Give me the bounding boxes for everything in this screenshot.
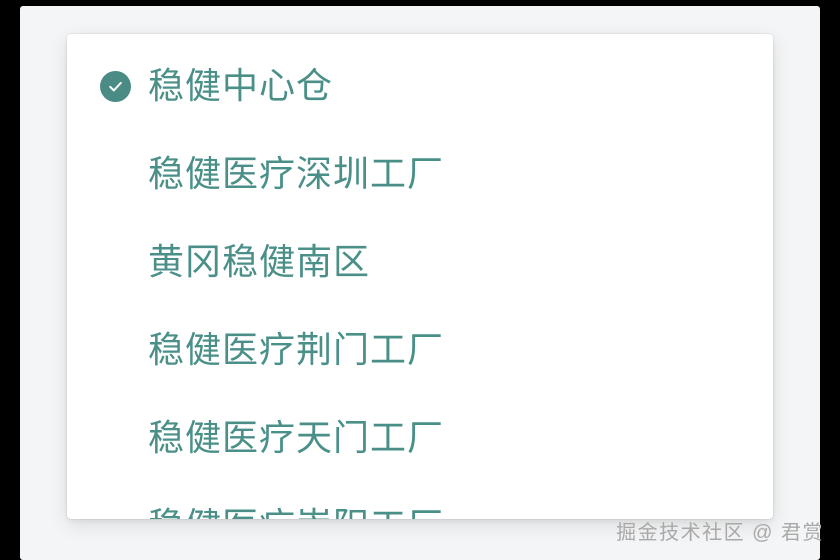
check-icon-placeholder [100, 511, 131, 520]
dropdown-option-list[interactable]: 稳健中心仓稳健医疗深圳工厂黄冈稳健南区稳健医疗荆门工厂稳健医疗天门工厂稳健医疗崇… [67, 34, 773, 519]
check-icon [100, 71, 131, 102]
check-icon-placeholder [100, 159, 131, 190]
dropdown-option[interactable]: 稳健医疗崇阳工厂 [67, 495, 773, 519]
dropdown-option[interactable]: 黄冈稳健南区 [67, 231, 773, 293]
check-icon-placeholder [100, 247, 131, 278]
watermark: 掘金技术社区 @ 君赏 [616, 520, 824, 546]
dropdown-option-label: 稳健医疗荆门工厂 [148, 328, 444, 372]
dropdown-option-label: 黄冈稳健南区 [148, 240, 370, 284]
dropdown-option-label: 稳健医疗天门工厂 [148, 416, 444, 460]
dropdown-panel: 稳健中心仓稳健医疗深圳工厂黄冈稳健南区稳健医疗荆门工厂稳健医疗天门工厂稳健医疗崇… [67, 34, 773, 519]
dropdown-option-label: 稳健中心仓 [148, 64, 333, 108]
dropdown-option[interactable]: 稳健中心仓 [67, 55, 773, 117]
dropdown-option[interactable]: 稳健医疗荆门工厂 [67, 319, 773, 381]
screen-root: 订 稳健中心仓稳健医疗深圳工厂黄冈稳健南区稳健医疗荆门工厂稳健医疗天门工厂稳健医… [0, 0, 840, 560]
dropdown-option[interactable]: 稳健医疗深圳工厂 [67, 143, 773, 205]
dropdown-option-label: 稳健医疗崇阳工厂 [148, 504, 444, 519]
dropdown-option[interactable]: 稳健医疗天门工厂 [67, 407, 773, 469]
check-icon-placeholder [100, 335, 131, 366]
dropdown-option-label: 稳健医疗深圳工厂 [148, 152, 444, 196]
check-icon-placeholder [100, 423, 131, 454]
